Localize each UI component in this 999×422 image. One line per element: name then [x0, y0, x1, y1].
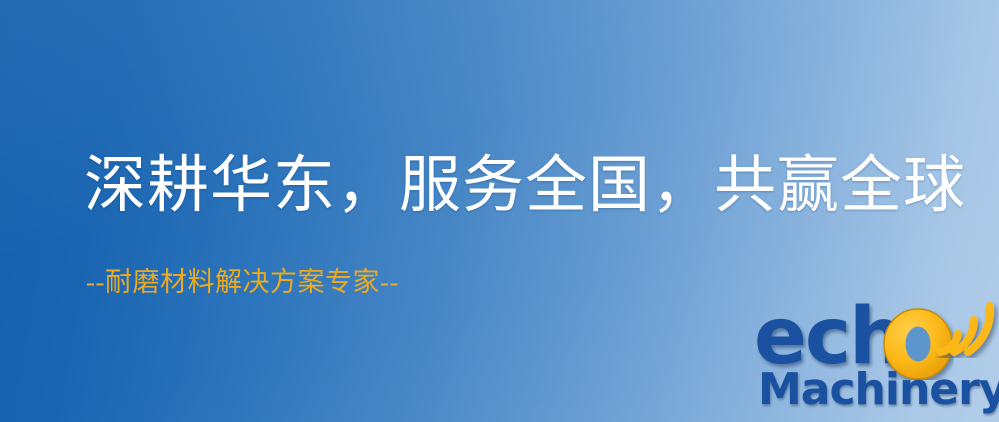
page-title: 深耕华东，服务全国，共赢全球	[84, 152, 966, 221]
promo-banner: 深耕华东，服务全国，共赢全球 --耐磨材料解决方案专家-- ech	[0, 0, 999, 422]
logo-machinery-label: Machinery	[758, 364, 999, 415]
logo-text-machinery: Machinery®	[758, 368, 999, 412]
echo-signal-waves-icon	[934, 294, 999, 358]
company-logo: ech	[750, 296, 999, 422]
subtitle-tagline: --耐磨材料解决方案专家--	[86, 266, 399, 298]
